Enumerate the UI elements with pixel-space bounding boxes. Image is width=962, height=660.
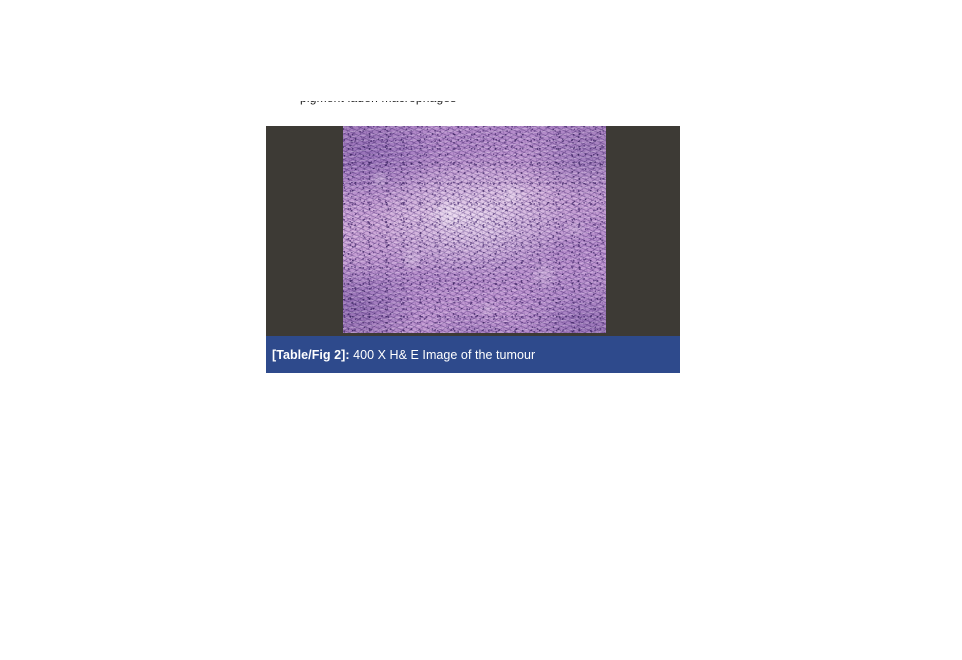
figure-block: [Table/Fig 2]: 400 X H& E Image of the t… — [266, 126, 680, 373]
histology-micrograph — [343, 126, 606, 333]
figure-caption-text: [Table/Fig 2]: 400 X H& E Image of the t… — [272, 348, 535, 362]
page-root: { "page": { "background_color": "#ffffff… — [0, 0, 962, 660]
figure-caption-bar: [Table/Fig 2]: 400 X H& E Image of the t… — [266, 336, 680, 373]
figure-image-frame — [266, 126, 680, 336]
figure-caption-label: [Table/Fig 2]: — [272, 348, 350, 362]
clipped-text-above-figure: pigment laden macrophages — [226, 101, 640, 110]
figure-caption-body: 400 X H& E Image of the tumour — [350, 348, 536, 362]
clipped-text-line: pigment laden macrophages — [300, 101, 640, 104]
he-vignette — [343, 126, 606, 333]
